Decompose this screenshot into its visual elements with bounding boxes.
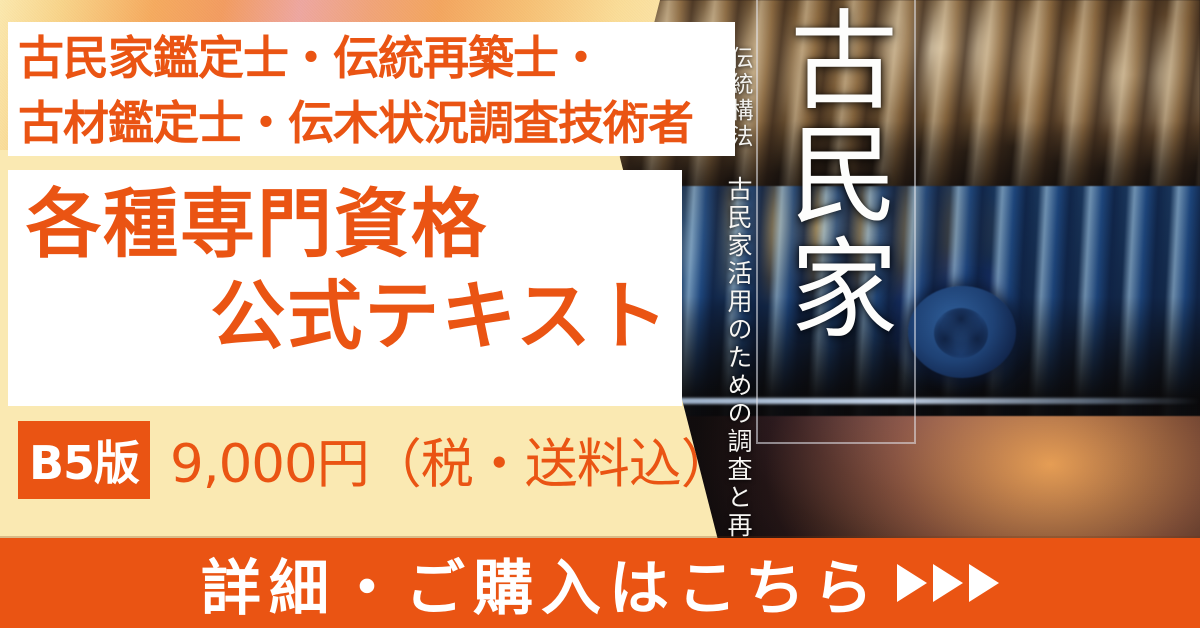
cover-title: 古民家 bbox=[788, 4, 896, 346]
cta-arrows bbox=[897, 564, 999, 602]
price-amount: 9,000円（税・送料込） bbox=[170, 422, 733, 498]
cta-label: 詳細・ご購入はこちら bbox=[201, 540, 881, 627]
headline-text: 各種専門資格 公式テキスト bbox=[18, 178, 678, 363]
family-crest-medallion bbox=[908, 286, 1016, 378]
certifications-text: 古民家鑑定士・伝統再築士・ 古材鑑定士・伝木状況調査技術者 bbox=[18, 26, 693, 157]
certifications-line-1: 古民家鑑定士・伝統再築士・ bbox=[18, 26, 693, 91]
headline-line-2: 公式テキスト bbox=[18, 271, 678, 363]
headline-line-1: 各種専門資格 bbox=[18, 178, 678, 271]
certifications-line-2: 古材鑑定士・伝木状況調査技術者 bbox=[18, 91, 693, 156]
chevron-right-icon bbox=[897, 564, 927, 602]
promo-banner: 伝統構法 古民家活用のための調査と再生の 古民家 古民家鑑定士・伝統再築士・ 古… bbox=[0, 0, 1200, 628]
price-row: B5版 9,000円（税・送料込） bbox=[18, 421, 733, 499]
cta-bar[interactable]: 詳細・ご購入はこちら bbox=[0, 538, 1200, 628]
size-badge: B5版 bbox=[18, 421, 150, 499]
chevron-right-icon bbox=[969, 564, 999, 602]
chevron-right-icon bbox=[933, 564, 963, 602]
